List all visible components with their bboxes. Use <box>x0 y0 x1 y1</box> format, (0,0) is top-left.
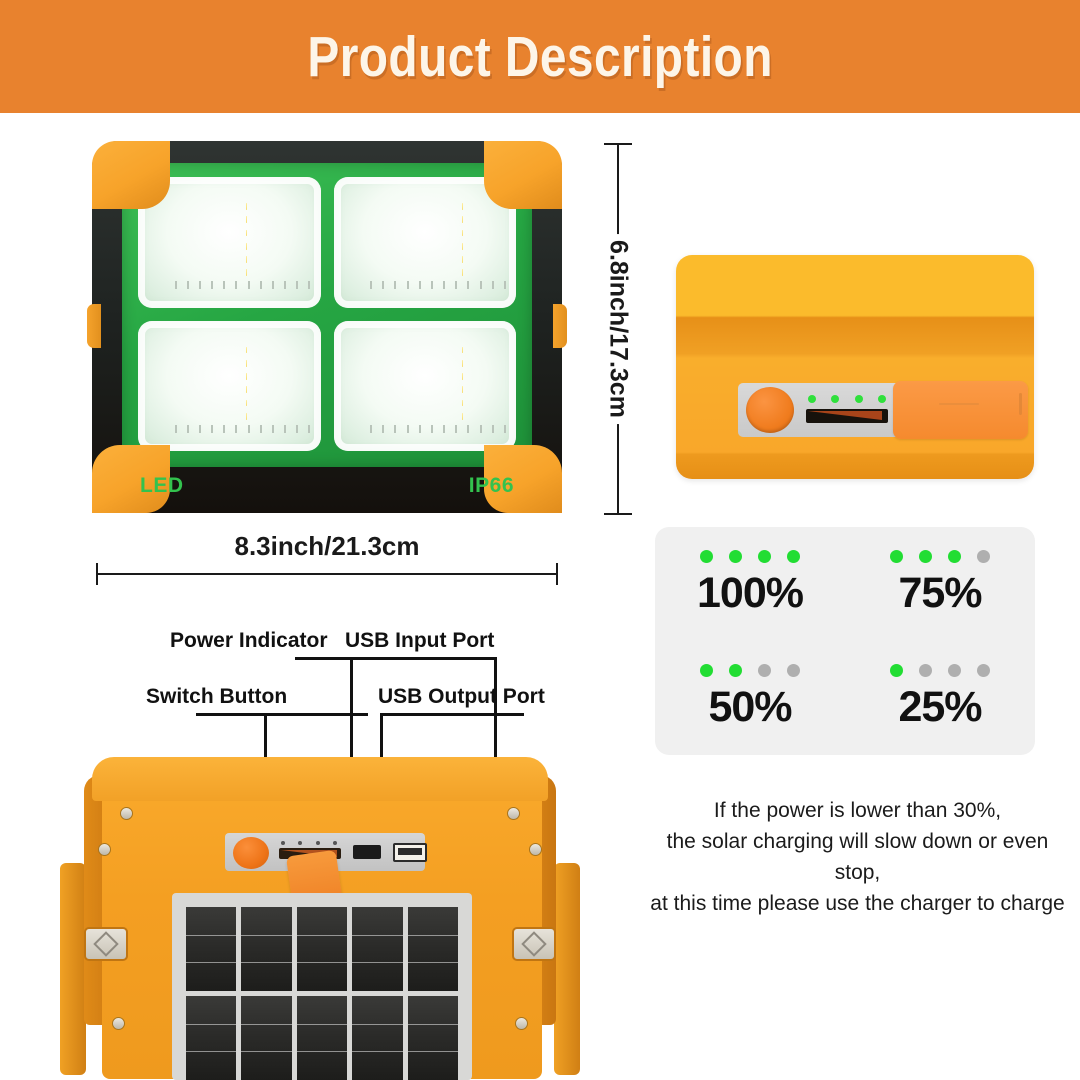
led-contact <box>431 281 433 289</box>
badge-led: LED <box>140 474 184 498</box>
battery-dot-on <box>890 664 903 677</box>
led-contact <box>419 425 421 433</box>
led-contact <box>455 281 457 289</box>
battery-level-item: 100% <box>655 527 845 641</box>
led-contact <box>296 425 298 433</box>
indicator-led <box>333 841 337 845</box>
led-contact-strip <box>175 281 288 289</box>
top-handle <box>92 757 548 801</box>
indicator-led <box>281 841 285 845</box>
solar-cell <box>297 907 347 991</box>
side-tab-left-icon <box>87 304 101 348</box>
callout-line-usb-input-h <box>350 657 468 660</box>
width-dimension-label: 8.3inch/21.3cm <box>235 531 420 562</box>
led-panel-grid <box>138 177 516 451</box>
led-contact <box>370 425 372 433</box>
battery-level-item: 75% <box>845 527 1035 641</box>
hinge-knob-right <box>512 927 556 961</box>
callout-line-usb-output-h <box>380 713 524 716</box>
battery-dots <box>890 550 990 563</box>
led-dot-grid <box>175 347 288 420</box>
battery-dots <box>890 664 990 677</box>
corner-cap-top-left <box>92 141 170 209</box>
control-recess-panel <box>738 383 996 437</box>
battery-level-item: 25% <box>845 641 1035 755</box>
battery-dot-off <box>948 664 961 677</box>
dimension-cap-left <box>96 563 98 585</box>
led-contact <box>248 425 250 433</box>
led-contact <box>235 425 237 433</box>
solar-cell <box>241 907 291 991</box>
battery-dot-on <box>700 664 713 677</box>
led-contact <box>187 425 189 433</box>
callout-line-switch-h <box>196 713 368 716</box>
battery-dot-on <box>729 664 742 677</box>
dimension-cap-top <box>604 143 632 145</box>
battery-level-label: 50% <box>708 683 791 732</box>
led-contact <box>370 281 372 289</box>
battery-level-label: 75% <box>898 569 981 618</box>
page-title: Product Description <box>307 24 773 90</box>
led-dot-grid <box>370 203 483 276</box>
led-contact <box>480 425 482 433</box>
page-header: Product Description <box>0 0 1080 113</box>
led-contact <box>175 281 177 289</box>
dimension-cap-bottom <box>604 513 632 515</box>
led-panel <box>334 321 517 452</box>
led-contact <box>504 281 506 289</box>
led-contact <box>223 281 225 289</box>
callout-label-power-indicator: Power Indicator <box>170 629 328 653</box>
indicator-led <box>855 395 863 403</box>
battery-dot-off <box>787 664 800 677</box>
battery-dots <box>700 664 800 677</box>
solar-cell <box>352 996 402 1080</box>
battery-level-label: 100% <box>697 569 803 618</box>
solar-cell <box>352 907 402 991</box>
side-tab-right-icon <box>553 304 567 348</box>
battery-indicator-leds <box>808 395 886 403</box>
switch-button-icon <box>233 837 269 869</box>
power-indicator-leds <box>281 841 337 845</box>
indicator-led <box>878 395 886 403</box>
led-contact <box>419 281 421 289</box>
led-contact <box>467 281 469 289</box>
led-contact <box>455 425 457 433</box>
battery-level-item: 50% <box>655 641 845 755</box>
usb-input-port-icon <box>353 845 381 859</box>
led-contact <box>467 425 469 433</box>
led-contact <box>175 425 177 433</box>
led-contact <box>308 281 310 289</box>
battery-dot-on <box>948 550 961 563</box>
dimension-line-horizontal <box>96 573 558 575</box>
width-dimension: 8.3inch/21.3cm <box>96 531 558 583</box>
port-cover-flap <box>893 381 1028 439</box>
led-panel <box>138 321 321 452</box>
charging-note: If the power is lower than 30%, the sola… <box>645 795 1070 919</box>
side-view-image <box>676 255 1034 479</box>
battery-dots <box>700 550 800 563</box>
led-contact <box>296 281 298 289</box>
led-contact-strip <box>370 281 483 289</box>
solar-cell-grid <box>186 907 458 1080</box>
led-contact <box>199 425 201 433</box>
led-contact <box>308 425 310 433</box>
led-contact <box>382 425 384 433</box>
screw-icon <box>515 1017 528 1030</box>
led-contact <box>272 281 274 289</box>
solar-cell <box>408 907 458 991</box>
dimension-cap-right <box>556 563 558 585</box>
solar-cell <box>297 996 347 1080</box>
led-contact <box>272 425 274 433</box>
led-contact <box>492 425 494 433</box>
charging-note-line-2: the solar charging will slow down or eve… <box>645 826 1070 888</box>
badge-ip66: IP66 <box>469 474 514 498</box>
battery-dot-off <box>977 664 990 677</box>
led-contact <box>248 281 250 289</box>
led-dot-grid <box>175 203 288 276</box>
height-dimension: 6.8inch/17.3cm <box>596 143 640 515</box>
screw-icon <box>112 1017 125 1030</box>
led-contact <box>407 425 409 433</box>
folding-stand-right <box>554 863 580 1075</box>
led-contact <box>260 425 262 433</box>
solar-cell <box>186 996 236 1080</box>
led-contact-strip <box>370 425 483 433</box>
product-badge-bar: LED IP66 <box>122 469 532 503</box>
led-contact <box>235 281 237 289</box>
led-dot-grid <box>370 347 483 420</box>
led-contact <box>260 281 262 289</box>
led-contact <box>223 425 225 433</box>
led-panel <box>138 177 321 308</box>
hinge-knob-left <box>84 927 128 961</box>
led-contact <box>187 281 189 289</box>
battery-dot-off <box>977 550 990 563</box>
battery-dot-on <box>729 550 742 563</box>
led-contact <box>443 425 445 433</box>
led-contact <box>394 425 396 433</box>
led-contact <box>504 425 506 433</box>
battery-level-legend: 100% 75% 50% 25% <box>655 527 1035 755</box>
screw-icon <box>120 807 133 820</box>
led-contact-strip <box>175 425 288 433</box>
led-contact <box>382 281 384 289</box>
led-contact <box>211 425 213 433</box>
battery-dot-off <box>919 664 932 677</box>
solar-panel-frame <box>172 893 472 1080</box>
indicator-led <box>808 395 816 403</box>
callout-label-switch-button: Switch Button <box>146 685 287 709</box>
led-contact <box>407 281 409 289</box>
indicator-led <box>831 395 839 403</box>
led-contact <box>431 425 433 433</box>
charging-note-line-3: at this time please use the charger to c… <box>645 888 1070 919</box>
led-contact <box>284 281 286 289</box>
battery-level-label: 25% <box>898 683 981 732</box>
led-contact <box>199 281 201 289</box>
battery-dot-on <box>758 550 771 563</box>
folding-stand-left <box>60 863 86 1075</box>
height-dimension-label: 6.8inch/17.3cm <box>604 234 633 424</box>
battery-dot-on <box>787 550 800 563</box>
battery-dot-on <box>919 550 932 563</box>
corner-cap-top-right <box>484 141 562 209</box>
led-contact <box>480 281 482 289</box>
power-button-icon <box>746 387 794 433</box>
indicator-led <box>298 841 302 845</box>
led-contact <box>394 281 396 289</box>
battery-dot-on <box>700 550 713 563</box>
usb-output-port-icon <box>393 843 427 862</box>
led-contact <box>211 281 213 289</box>
callout-label-usb-input-port: USB Input Port <box>345 629 494 653</box>
front-view-image: LED IP66 <box>92 141 562 513</box>
led-contact <box>492 281 494 289</box>
callout-label-usb-output-port: USB Output Port <box>378 685 545 709</box>
screw-icon <box>98 843 111 856</box>
charging-note-line-1: If the power is lower than 30%, <box>645 795 1070 826</box>
solar-cell <box>241 996 291 1080</box>
led-contact <box>443 281 445 289</box>
rear-view-image <box>40 745 600 1080</box>
battery-dot-on <box>890 550 903 563</box>
screw-icon <box>507 807 520 820</box>
battery-dot-off <box>758 664 771 677</box>
solar-cell <box>408 996 458 1080</box>
screw-icon <box>529 843 542 856</box>
indicator-led <box>316 841 320 845</box>
indicator-window-icon <box>806 409 888 423</box>
solar-cell <box>186 907 236 991</box>
led-contact <box>284 425 286 433</box>
